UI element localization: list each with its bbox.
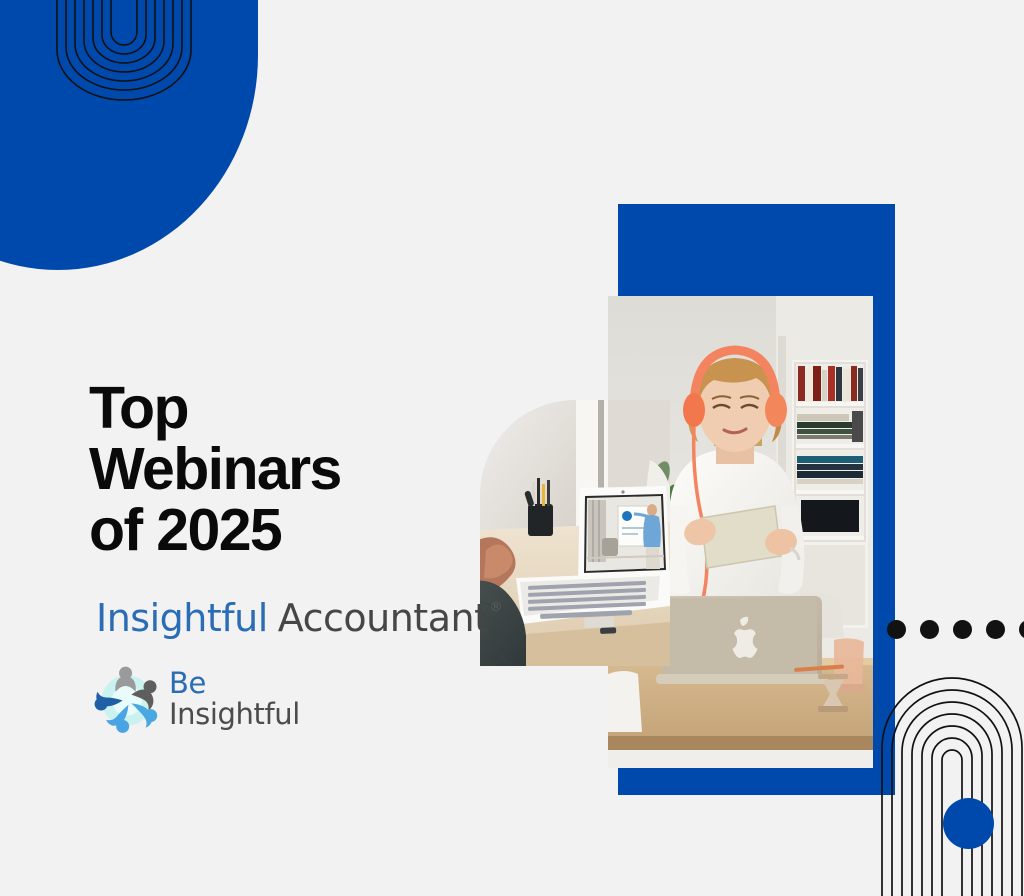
dot-row-decoration — [887, 620, 1024, 639]
logo-word-insightful: Insightful — [96, 599, 268, 637]
headline-line-1: Top — [89, 378, 489, 439]
be-insightful-line-1: Be — [169, 668, 300, 699]
dot-icon — [920, 620, 939, 639]
insightful-accountant-logo: Insightful Accountant ® — [96, 599, 502, 637]
registered-trademark-icon: ® — [489, 601, 502, 614]
be-insightful-network-mark-icon — [91, 663, 163, 735]
laptop-webinar-photo — [480, 400, 670, 666]
be-insightful-line-2: Insightful — [169, 699, 300, 730]
bottom-right-arch-lines-icon — [880, 676, 1024, 896]
poster-canvas: Top Webinars of 2025 Insightful Accounta… — [0, 0, 1024, 896]
page-title: Top Webinars of 2025 — [89, 378, 489, 560]
dot-icon — [953, 620, 972, 639]
dot-icon — [1019, 620, 1024, 639]
be-insightful-wordmark: Be Insightful — [169, 668, 300, 729]
dot-icon — [986, 620, 1005, 639]
top-left-blue-blob — [0, 0, 258, 270]
headline-line-3: of 2025 — [89, 500, 489, 561]
be-insightful-logo: Be Insightful — [91, 663, 300, 735]
blue-accent-circle — [943, 798, 994, 849]
logo-word-accountant: Accountant — [278, 599, 489, 637]
dot-icon — [887, 620, 906, 639]
headline-line-2: Webinars — [89, 439, 489, 500]
